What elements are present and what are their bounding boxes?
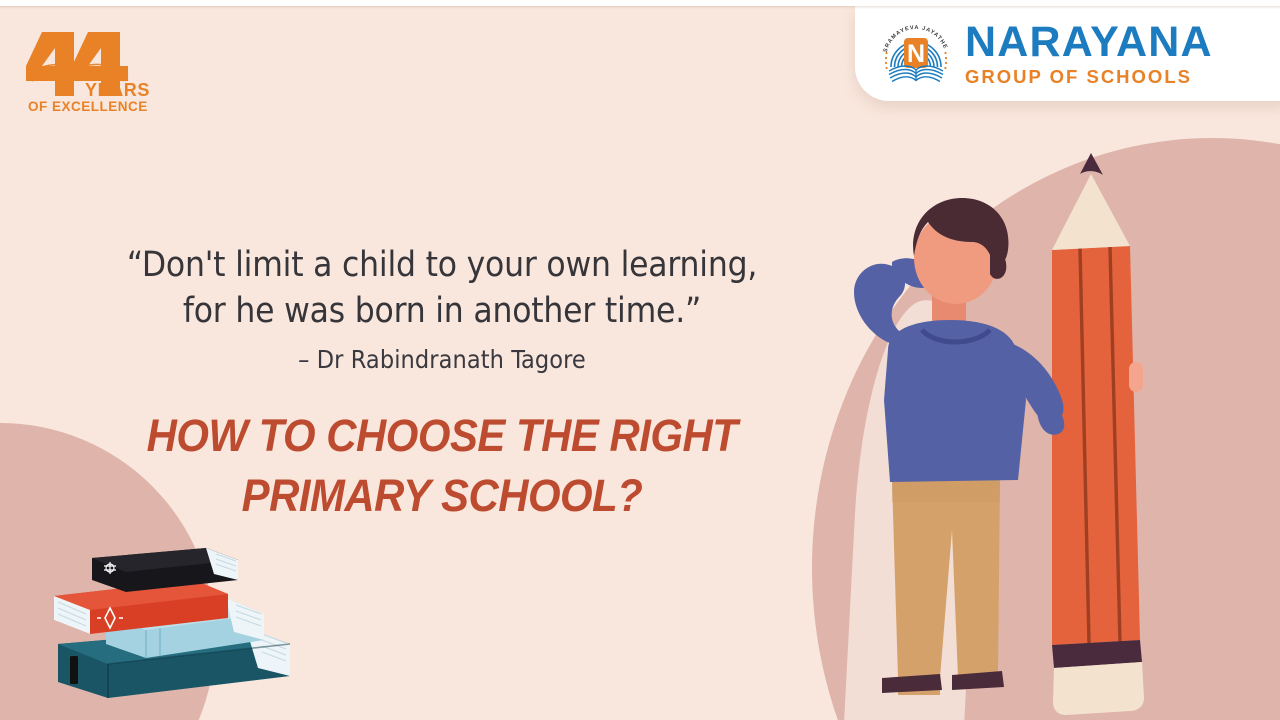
- giant-pencil-icon: [1052, 153, 1144, 715]
- brand-name: NARAYANA: [965, 21, 1213, 64]
- brand-header-card: SRAMAYEVA JAYATHE: [855, 6, 1280, 101]
- page-title: HOW TO CHOOSE THE RIGHT PRIMARY SCHOOL?: [98, 406, 786, 526]
- main-text-block: “Don't limit a child to your own learnin…: [72, 242, 812, 526]
- narayana-emblem-icon: SRAMAYEVA JAYATHE: [879, 17, 953, 91]
- headline-line-1: HOW TO CHOOSE THE RIGHT: [98, 406, 786, 466]
- years-of-excellence-badge: YEARS OF EXCELLENCE: [22, 18, 172, 113]
- person-figure-icon: [854, 198, 1064, 695]
- quote-line-1: “Don't limit a child to your own learnin…: [72, 242, 812, 288]
- top-strip-shadow: [0, 6, 1280, 9]
- brand-wordmark: NARAYANA GROUP OF SCHOOLS: [965, 21, 1213, 87]
- years-label: YEARS: [85, 80, 150, 100]
- book-black: [92, 548, 238, 592]
- stack-of-books-illustration: [18, 536, 318, 720]
- top-white-strip: [0, 0, 1280, 6]
- headline-line-2: PRIMARY SCHOOL?: [98, 466, 786, 526]
- emblem-letter: N: [907, 40, 925, 68]
- quote-line-2: for he was born in another time.”: [72, 288, 812, 334]
- excellence-label: OF EXCELLENCE: [28, 99, 148, 113]
- person-with-pencil-illustration: [840, 150, 1280, 720]
- brand-subtitle: GROUP OF SCHOOLS: [965, 68, 1213, 87]
- quote-attribution: – Dr Rabindranath Tagore: [72, 345, 812, 374]
- poster-canvas: YEARS OF EXCELLENCE SRAMAYEVA JAYATHE: [0, 0, 1280, 720]
